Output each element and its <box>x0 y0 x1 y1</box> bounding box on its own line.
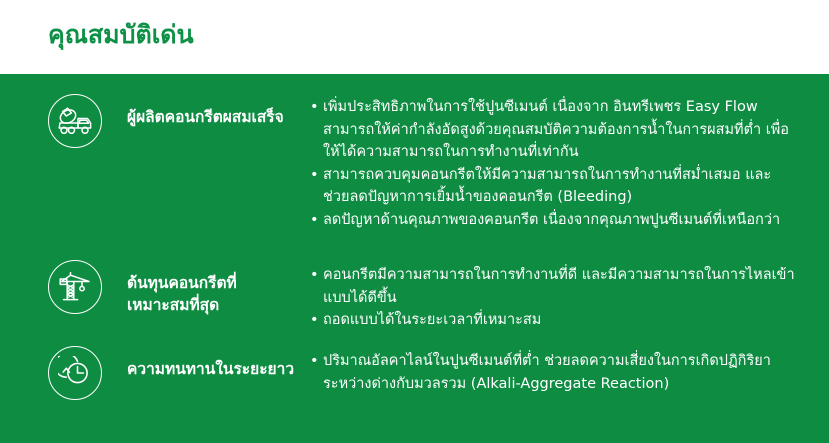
feature-label-cell: ความทนทานในระยะยาว <box>105 346 310 380</box>
feature-bullets: คอนกรีตมีความสามารถในการทำงานที่ดี และมี… <box>310 260 829 332</box>
construction-crane-icon <box>48 260 102 314</box>
feature-row: ต้นทุนคอนกรีตที่ เหมาะสมที่สุด คอนกรีตมี… <box>0 260 829 332</box>
bullet-item: ลดปัญหาด้านคุณภาพของคอนกรีต เนื่องจากคุณ… <box>310 209 795 232</box>
bullet-item: เพิ่มประสิทธิภาพในการใช้ปูนซีเมนต์ เนื่อ… <box>310 96 795 164</box>
slide-root: คุณสมบัติเด่น <box>0 0 829 443</box>
feature-icon-cell <box>0 346 105 400</box>
feature-label-cell: ต้นทุนคอนกรีตที่ เหมาะสมที่สุด <box>105 260 310 316</box>
feature-bullets: เพิ่มประสิทธิภาพในการใช้ปูนซีเมนต์ เนื่อ… <box>310 94 829 231</box>
feature-label-cell: ผู้ผลิตคอนกรีตผสมเสร็จ <box>105 94 310 128</box>
bullet-item: ถอดแบบได้ในระยะเวลาที่เหมาะสม <box>310 309 795 332</box>
slide-header: คุณสมบัติเด่น <box>0 0 829 74</box>
concrete-mixer-truck-icon <box>48 94 102 148</box>
feature-icon-cell <box>0 260 105 314</box>
feature-label: ผู้ผลิตคอนกรีตผสมเสร็จ <box>127 106 310 128</box>
page-title: คุณสมบัติเด่น <box>48 18 194 52</box>
feature-icon-cell <box>0 94 105 148</box>
bullet-item: คอนกรีตมีความสามารถในการทำงานที่ดี และมี… <box>310 264 795 309</box>
feature-label: ต้นทุนคอนกรีตที่ เหมาะสมที่สุด <box>127 272 310 316</box>
bullet-item: ปริมาณอัลคาไลน์ในปูนซีเมนต์ที่ต่ำ ช่วยลด… <box>310 350 795 395</box>
feature-label: ความทนทานในระยะยาว <box>127 358 310 380</box>
feature-row: ความทนทานในระยะยาว ปริมาณอัลคาไลน์ในปูนซ… <box>0 346 829 400</box>
clock-durability-icon <box>48 346 102 400</box>
features-panel: ผู้ผลิตคอนกรีตผสมเสร็จ เพิ่มประสิทธิภาพใ… <box>0 74 829 443</box>
bullet-item: สามารถควบคุมคอนกรีตให้มีความสามารถในการท… <box>310 164 795 209</box>
feature-row: ผู้ผลิตคอนกรีตผสมเสร็จ เพิ่มประสิทธิภาพใ… <box>0 94 829 231</box>
feature-bullets: ปริมาณอัลคาไลน์ในปูนซีเมนต์ที่ต่ำ ช่วยลด… <box>310 346 829 395</box>
